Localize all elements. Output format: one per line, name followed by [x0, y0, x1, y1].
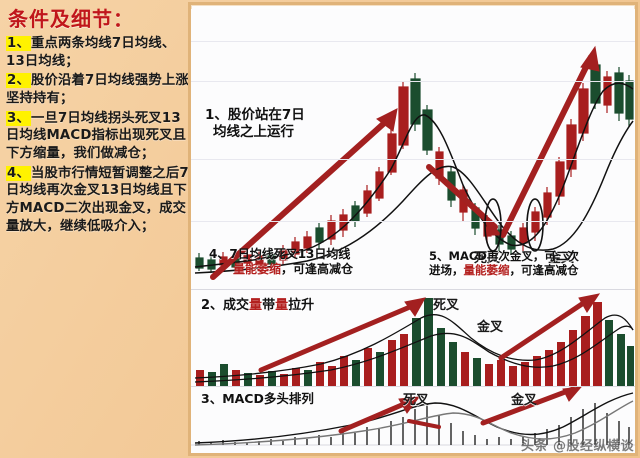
- conditions-text-panel: 条件及细节： 1、重点两条均线7日均线、13日均线； 2、股价沿着7日均线强势上…: [0, 0, 196, 458]
- annotation-2-pre: 2、成交: [201, 298, 249, 313]
- rule-item-4: 4、当股市行情短暂调整之后7日均线再次金叉13日均线且下方MACD二次出现金叉，…: [6, 165, 192, 236]
- gridline: [191, 159, 635, 160]
- annotation-2: 2、成交量带量拉升: [201, 298, 314, 314]
- page-root: 条件及细节： 1、重点两条均线7日均线、13日均线； 2、股价沿着7日均线强势上…: [0, 0, 640, 458]
- rule-text-1: 重点两条均线7日均线、13日均线；: [6, 36, 175, 69]
- annotation-2-mid: 带: [262, 298, 275, 313]
- stock-chart-frame: 1、股价站在7日 均线之上运行 死叉 金叉 4、7日均线死叉13日均线 量能萎缩…: [188, 2, 638, 456]
- rule-item-3: 3、一旦7日均线拐头死叉13日均线MACD指标出现死叉且下方缩量，我们做减仓；: [6, 110, 192, 163]
- annotation-3: 3、MACD多头排列: [201, 391, 314, 407]
- macd-golden-cross-label: 金叉: [511, 389, 537, 408]
- rule-item-1: 1、重点两条均线7日均线、13日均线；: [6, 35, 192, 70]
- rule-item-2: 2、股价沿着7日均线强势上涨坚持持有；: [6, 72, 192, 107]
- rule-text-2: 股价沿着7日均线强势上涨坚持持有；: [6, 73, 189, 106]
- rule-number-4: 4、: [6, 166, 31, 181]
- volume-death-cross-label: 死叉: [433, 294, 459, 313]
- rule-number-2: 2、: [6, 73, 31, 88]
- rule-number-3: 3、: [6, 111, 31, 126]
- gridline: [191, 221, 635, 222]
- macd-arrow-2: [409, 421, 439, 427]
- chart-inner: 1、股价站在7日 均线之上运行 死叉 金叉 4、7日均线死叉13日均线 量能萎缩…: [191, 5, 635, 453]
- rule-text-3: 一旦7日均线拐头死叉13日均线MACD指标出现死叉且下方缩量，我们做减仓；: [6, 111, 186, 161]
- watermark: 头条 @股经纵横谈: [521, 435, 634, 454]
- volume-golden-cross-label: 金叉: [477, 316, 503, 335]
- macd-death-cross-label: 死叉: [403, 389, 429, 408]
- annotation-2-post: 拉升: [288, 298, 314, 313]
- annotation-2-red-2: 量: [275, 298, 288, 313]
- gridline: [191, 81, 635, 82]
- price-candlestick-panel[interactable]: 1、股价站在7日 均线之上运行 死叉 金叉 4、7日均线死叉13日均线 量能萎缩…: [191, 9, 635, 290]
- annotation-5-black-2: ，可逢高减仓: [510, 263, 579, 277]
- annotation-1-line1: 1、股价站在7日: [205, 107, 305, 124]
- annotation-4-black: ，可逢高减仓: [281, 262, 353, 276]
- annotation-1-line2: 均线之上运行: [213, 124, 305, 141]
- gridline: [191, 41, 635, 42]
- annotation-5-line1: 5、MACD再次金叉，可二次: [429, 249, 579, 263]
- annotation-5-black-1: 进场，: [429, 263, 464, 277]
- volume-panel[interactable]: 2、成交量带量拉升 死叉 金叉: [191, 290, 635, 387]
- annotation-1: 1、股价站在7日 均线之上运行: [205, 107, 305, 141]
- annotation-5-red: 量能萎缩: [464, 263, 510, 277]
- annotation-2-red-1: 量: [249, 298, 262, 313]
- annotation-4-line1: 4、7日均线死叉13日均线: [209, 247, 353, 262]
- annotation-4-red: 量能萎缩: [233, 262, 281, 276]
- rule-text-4: 当股市行情短暂调整之后7日均线再次金叉13日均线且下方MACD二次出现金叉，成交…: [6, 166, 189, 234]
- annotation-4: 4、7日均线死叉13日均线 量能萎缩，可逢高减仓: [209, 247, 353, 277]
- rule-number-1: 1、: [6, 36, 31, 51]
- page-title: 条件及细节：: [8, 8, 192, 30]
- annotation-5: 5、MACD再次金叉，可二次 进场，量能萎缩，可逢高减仓: [429, 249, 579, 278]
